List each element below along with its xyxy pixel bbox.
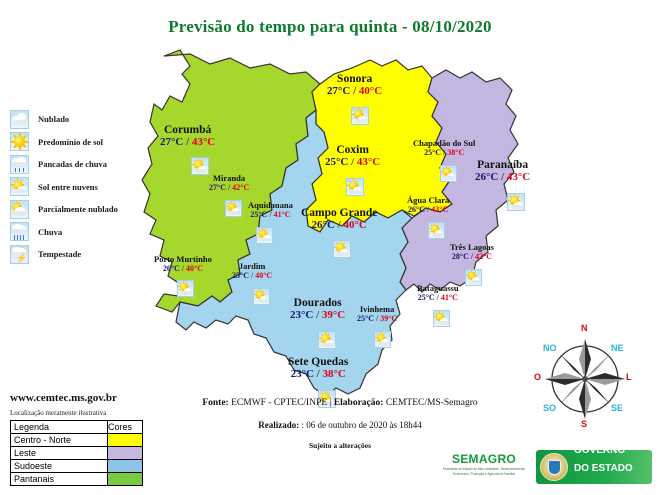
temp-min: 28°C: [452, 252, 469, 261]
city-chapadao-do-sul[interactable]: Chapadão do Sul 25°C / 38°C: [413, 139, 475, 158]
city-name: Chapadão do Sul: [413, 139, 475, 148]
city-agua-clara[interactable]: Água Clara 26°C / 43°C: [407, 196, 449, 215]
city-coxim[interactable]: Coxim 25°C / 43°C: [325, 144, 380, 169]
city-name: Paranaíba: [475, 159, 530, 171]
city-jardim[interactable]: Jardim 25°C / 40°C: [232, 262, 272, 281]
sun-between-clouds-icon: [374, 331, 391, 348]
legend-label: Tempestade: [38, 249, 81, 259]
city-temps: 27°C / 43°C: [160, 136, 215, 149]
fonte-label: Fonte:: [202, 398, 228, 408]
temp-max: 41°C: [441, 293, 458, 302]
thunderstorm-icon: ⚡: [10, 245, 29, 264]
mato-grosso-do-sul-map: Corumbá 27°C / 43°C Miranda 27°C / 42°C: [120, 44, 540, 414]
city-temps: 26°C / 40°C: [301, 219, 377, 232]
temp-sep: /: [228, 183, 230, 192]
sun-between-clouds-icon: [351, 107, 369, 125]
temp-max: 42°C: [232, 183, 249, 192]
governo-do-estado-logo: GOVERNO DO ESTADO Mato Grosso do Sul: [536, 450, 652, 484]
city-temps: 25°C / 41°C: [248, 210, 293, 220]
city-name: Água Clara: [407, 196, 449, 205]
temp-min: 25°C: [424, 148, 441, 157]
city-temps: 26°C / 43°C: [475, 171, 530, 184]
city-temps: 26°C / 40°C: [154, 264, 212, 274]
semagro-name: SEMAGRO: [438, 452, 530, 466]
legend-label: Chuva: [38, 227, 62, 237]
gov-line2: DO ESTADO: [574, 463, 633, 474]
gov-line3: Mato Grosso do Sul: [574, 485, 623, 491]
city-paranaiba[interactable]: Paranaíba 26°C / 43°C: [475, 159, 530, 184]
compass-label-o: O: [534, 372, 541, 382]
city-name: Campo Grande: [301, 207, 377, 219]
sun-between-clouds-icon: [256, 227, 273, 244]
temp-max: 42°C: [475, 252, 492, 261]
compass-label-l: L: [626, 372, 632, 382]
city-name: Porto Murtinho: [154, 255, 212, 264]
temp-max: 43°C: [357, 156, 380, 168]
city-name: Dourados: [290, 297, 345, 309]
city-name: Jardim: [232, 262, 272, 271]
realized-line: Realizado: : 06 de outubro de 2020 às 18…: [0, 420, 660, 430]
temp-max: 39°C: [380, 314, 397, 323]
city-name: Aquidauana: [248, 201, 293, 210]
fonte-value: ECMWF - CPTEC/INPE |: [229, 398, 334, 408]
temp-max: 43°C: [431, 205, 448, 214]
city-name: Sete Quedas: [288, 356, 348, 368]
city-dourados[interactable]: Dourados 23°C / 39°C: [290, 297, 345, 322]
temp-sep: /: [251, 271, 253, 280]
sun-between-clouds-icon: [465, 269, 482, 286]
temp-min: 23°C: [290, 309, 313, 321]
sunny-icon: [10, 132, 29, 151]
compass-svg: [530, 325, 640, 430]
city-sete-quedas[interactable]: Sete Quedas 23°C / 38°C: [288, 356, 348, 381]
semagro-subtitle: Secretaria de Estado de Meio Ambiente, D…: [438, 467, 530, 477]
temp-max: 40°C: [186, 264, 203, 273]
semagro-logo: SEMAGRO Secretaria de Estado de Meio Amb…: [438, 452, 530, 477]
temp-max: 41°C: [274, 210, 291, 219]
temp-sep: /: [186, 136, 189, 148]
city-bataguassu[interactable]: Bataguassu 25°C / 41°C: [417, 284, 459, 303]
city-temps: 25°C / 40°C: [232, 271, 272, 281]
temp-min: 26°C: [475, 171, 498, 183]
city-tres-lagoas[interactable]: Três Lagoas 28°C / 42°C: [450, 243, 494, 262]
temp-min: 25°C: [250, 210, 267, 219]
sun-between-clouds-icon: [10, 177, 29, 196]
sun-between-clouds-icon: [253, 288, 270, 305]
temp-sep: /: [501, 171, 504, 183]
temp-min: 25°C: [418, 293, 435, 302]
temp-max: 43°C: [507, 171, 530, 183]
cloudy-icon: [10, 110, 29, 129]
temp-sep: /: [376, 314, 378, 323]
rain-showers-icon: [10, 155, 29, 174]
temp-min: 27°C: [160, 136, 183, 148]
city-name: Miranda: [209, 174, 249, 183]
legend-label: Pancadas de chuva: [38, 159, 107, 169]
temp-sep: /: [427, 205, 429, 214]
temp-sep: /: [317, 368, 320, 380]
temp-max: 40°C: [359, 85, 382, 97]
sun-between-clouds-icon: [191, 157, 209, 175]
city-ivinhema[interactable]: Ivinhema 25°C / 39°C: [357, 305, 397, 324]
temp-min: 23°C: [291, 368, 314, 380]
temp-max: 38°C: [322, 368, 345, 380]
temp-max: 40°C: [255, 271, 272, 280]
compass-label-n: N: [581, 323, 588, 333]
temp-sep: /: [182, 264, 184, 273]
sun-between-clouds-icon: [346, 178, 364, 196]
subject-to-change-note: Sujeito a alterações: [0, 441, 660, 450]
temp-sep: /: [471, 252, 473, 261]
temp-sep: /: [443, 148, 445, 157]
city-miranda[interactable]: Miranda 27°C / 42°C: [209, 174, 249, 193]
sun-between-clouds-icon: [177, 280, 194, 297]
legend-label: Sol entre nuvens: [38, 182, 98, 192]
temp-max: 38°C: [447, 148, 464, 157]
temp-min: 26°C: [408, 205, 425, 214]
temp-max: 40°C: [343, 219, 366, 231]
city-porto-murtinho[interactable]: Porto Murtinho 26°C / 40°C: [154, 255, 212, 274]
elaboracao-value: CEMTEC/MS-Semagro: [383, 398, 477, 408]
temp-min: 26°C: [163, 264, 180, 273]
temp-sep: /: [353, 85, 356, 97]
rain-icon: [10, 222, 29, 241]
compass-label-no: NO: [543, 343, 557, 353]
city-name: Ivinhema: [357, 305, 397, 314]
city-temps: 26°C / 43°C: [407, 205, 449, 215]
temp-sep: /: [338, 219, 341, 231]
sun-between-clouds-icon: [440, 165, 457, 182]
city-temps: 28°C / 42°C: [450, 252, 494, 262]
city-sonora[interactable]: Sonora 27°C / 40°C: [327, 73, 382, 98]
city-aquidauana[interactable]: Aquidauana 25°C / 41°C: [248, 201, 293, 220]
governo-text: GOVERNO DO ESTADO Mato Grosso do Sul: [574, 440, 633, 494]
weather-forecast-map-page: Previsão do tempo para quinta - 08/10/20…: [0, 0, 660, 495]
region-label: Pantanais: [11, 473, 108, 486]
sun-between-clouds-icon: [318, 331, 336, 349]
temp-sep: /: [269, 210, 271, 219]
sun-between-clouds-icon: [428, 222, 445, 239]
city-name: Bataguassu: [417, 284, 459, 293]
city-temps: 25°C / 38°C: [413, 148, 475, 158]
legend-label: Predomínio de sol: [38, 137, 103, 147]
city-temps: 27°C / 40°C: [327, 85, 382, 98]
temp-max: 39°C: [322, 309, 345, 321]
temp-min: 27°C: [209, 183, 226, 192]
sun-between-clouds-icon: [333, 240, 351, 258]
city-name: Corumbá: [160, 124, 215, 136]
temp-min: 27°C: [327, 85, 350, 97]
temp-min: 25°C: [232, 271, 249, 280]
realizado-label: Realizado:: [258, 420, 299, 430]
region-color-swatch: [108, 460, 143, 473]
gov-line1: GOVERNO: [574, 445, 625, 456]
region-label: Sudoeste: [11, 460, 108, 473]
source-line: Fonte: ECMWF - CPTEC/INPE | Elaboração: …: [0, 398, 660, 408]
temp-sep: /: [351, 156, 354, 168]
table-row: Sudoeste: [11, 460, 143, 473]
city-temps: 23°C / 39°C: [290, 309, 345, 322]
legend-label: Parcialmente nublado: [38, 204, 118, 214]
location-disclaimer: Localização meramente ilustrativa: [10, 409, 106, 417]
sun-between-clouds-icon: [225, 200, 242, 217]
city-temps: 25°C / 43°C: [325, 156, 380, 169]
compass-rose: N S L O NE NO SE SO: [530, 325, 640, 430]
city-name: Três Lagoas: [450, 243, 494, 252]
table-row: Pantanais: [11, 473, 143, 486]
page-title: Previsão do tempo para quinta - 08/10/20…: [0, 17, 660, 37]
city-temps: 25°C / 41°C: [417, 293, 459, 303]
temp-min: 25°C: [357, 314, 374, 323]
city-corumba[interactable]: Corumbá 27°C / 43°C: [160, 124, 215, 149]
city-temps: 27°C / 42°C: [209, 183, 249, 193]
temp-sep: /: [437, 293, 439, 302]
city-campo-grande[interactable]: Campo Grande 26°C / 40°C: [301, 207, 377, 232]
region-color-swatch: [108, 473, 143, 486]
sun-between-clouds-icon: [433, 310, 450, 327]
compass-label-ne: NE: [611, 343, 624, 353]
city-temps: 25°C / 39°C: [357, 314, 397, 324]
temp-sep: /: [316, 309, 319, 321]
city-name: Coxim: [325, 144, 380, 156]
city-name: Sonora: [327, 73, 382, 85]
elaboracao-label: Elaboração:: [334, 398, 384, 408]
temp-max: 43°C: [192, 136, 215, 148]
temp-min: 25°C: [325, 156, 348, 168]
realizado-value: : 06 de outubro de 2020 às 18h44: [299, 420, 421, 430]
legend-label: Nublado: [38, 114, 69, 124]
temp-min: 26°C: [312, 219, 335, 231]
city-temps: 23°C / 38°C: [288, 368, 348, 381]
partly-cloudy-icon: [10, 200, 29, 219]
sun-between-clouds-icon: [507, 193, 525, 211]
state-crest-icon: [540, 453, 568, 481]
